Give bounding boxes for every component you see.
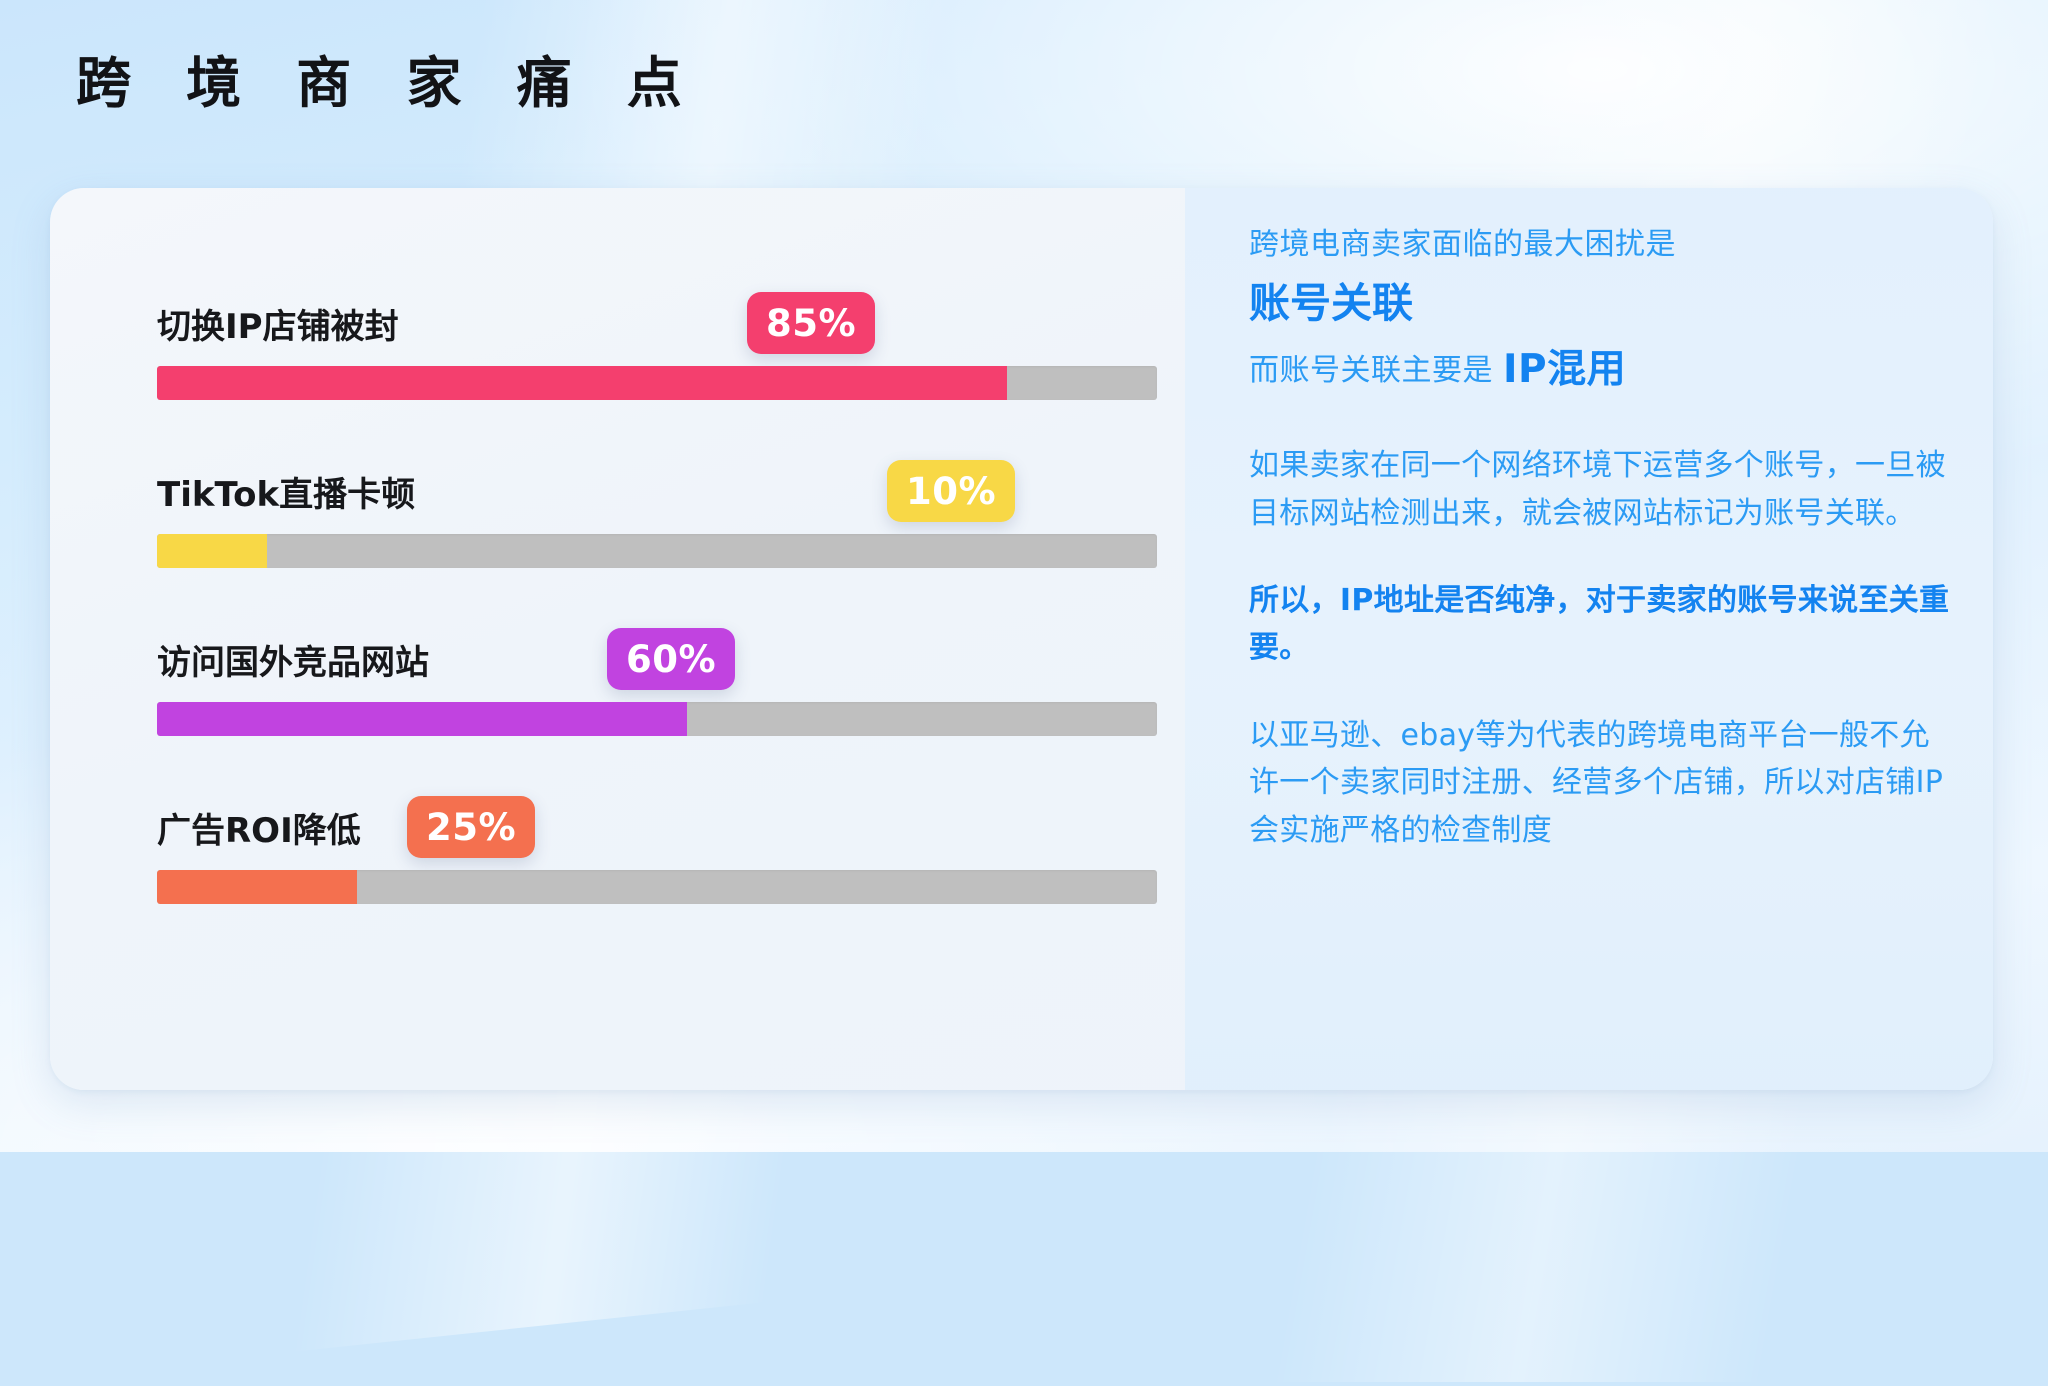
info-paragraph-1: 如果卖家在同一个网络环境下运营多个账号，一旦被目标网站检测出来，就会被网站标记为… xyxy=(1249,442,1955,537)
info-headline: 账号关联 xyxy=(1249,277,1955,330)
bar-label: 广告ROI降低 xyxy=(157,814,361,848)
bar-row: TikTok直播卡顿 10% xyxy=(157,434,1157,568)
value-badge: 10% xyxy=(887,460,1015,522)
bar-track xyxy=(157,702,1157,736)
bar-label: 切换IP店铺被封 xyxy=(157,310,399,344)
bar-label: 访问国外竞品网站 xyxy=(157,646,429,680)
info-lead-line: 跨境电商卖家面临的最大困扰是 xyxy=(1249,222,1955,269)
info-subline-prefix: 而账号关联主要是 xyxy=(1249,353,1493,388)
bar-track xyxy=(157,366,1157,400)
value-badge: 60% xyxy=(607,628,735,690)
chart-panel: 切换IP店铺被封 85% TikTok直播卡顿 10% 访问国外竞品网站 60% xyxy=(50,188,1185,1090)
value-badge: 25% xyxy=(407,796,535,858)
value-badge: 85% xyxy=(747,292,875,354)
bar-row-header: 访问国外竞品网站 60% xyxy=(157,602,1157,688)
bar-row-header: 广告ROI降低 25% xyxy=(157,770,1157,856)
info-panel: 跨境电商卖家面临的最大困扰是 账号关联 而账号关联主要是IP混用 如果卖家在同一… xyxy=(1185,188,1993,1090)
bar-row-header: TikTok直播卡顿 10% xyxy=(157,434,1157,520)
bar-fill xyxy=(157,702,687,736)
bar-label: TikTok直播卡顿 xyxy=(157,478,415,512)
bar-row-header: 切换IP店铺被封 85% xyxy=(157,266,1157,352)
info-paragraph-2: 所以，IP地址是否纯净，对于卖家的账号来说至关重要。 xyxy=(1249,577,1955,672)
info-subline-highlight: IP混用 xyxy=(1503,347,1626,392)
page-title: 跨 境 商 家 痛 点 xyxy=(76,56,700,111)
content-card: 切换IP店铺被封 85% TikTok直播卡顿 10% 访问国外竞品网站 60% xyxy=(50,188,1993,1090)
bar-fill xyxy=(157,870,357,904)
bar-row: 广告ROI降低 25% xyxy=(157,770,1157,904)
info-paragraph-3: 以亚马逊、ebay等为代表的跨境电商平台一般不允许一个卖家同时注册、经营多个店铺… xyxy=(1249,712,1955,854)
bar-fill xyxy=(157,534,267,568)
bar-row: 访问国外竞品网站 60% xyxy=(157,602,1157,736)
bar-track xyxy=(157,870,1157,904)
info-subline: 而账号关联主要是IP混用 xyxy=(1249,340,1955,400)
bar-fill xyxy=(157,366,1007,400)
bar-row: 切换IP店铺被封 85% xyxy=(157,266,1157,400)
bar-track xyxy=(157,534,1157,568)
